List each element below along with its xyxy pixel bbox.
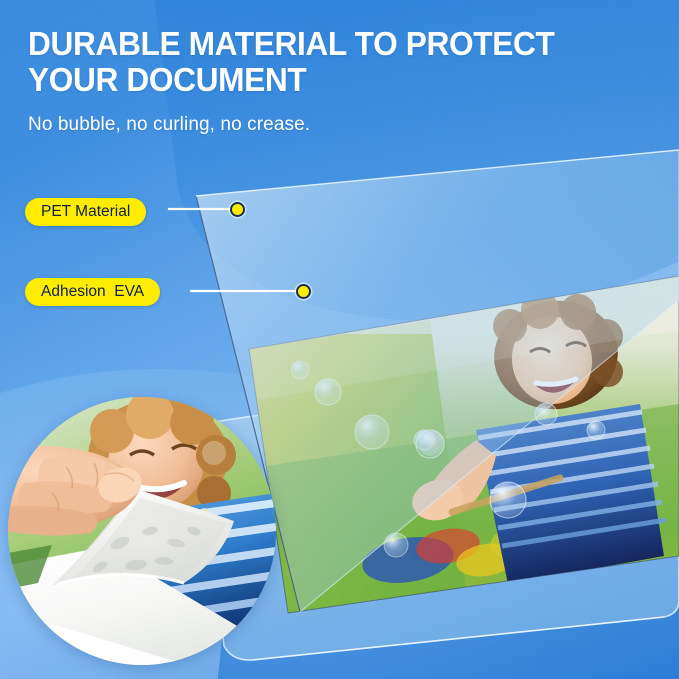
callout-leader-line-adhesion-eva <box>190 290 300 292</box>
page-title: DURABLE MATERIAL TO PROTECT YOUR DOCUMEN… <box>28 26 628 98</box>
headline-line-2: YOUR DOCUMENT <box>28 62 604 98</box>
detail-inset-peeling-laminate <box>8 397 276 665</box>
callout-leader-line-pet-material <box>168 208 234 210</box>
callout-label-pet-material[interactable]: PET Material <box>25 198 146 226</box>
callout-endpoint-dot-pet-material <box>230 202 245 217</box>
product-banner: DURABLE MATERIAL TO PROTECT YOUR DOCUMEN… <box>0 0 679 679</box>
subtitle: No bubble, no curling, no crease. <box>28 113 310 137</box>
callout-label-adhesion-eva[interactable]: Adhesion EVA <box>25 278 160 306</box>
headline-line-1: DURABLE MATERIAL TO PROTECT <box>28 26 604 62</box>
callout-endpoint-dot-adhesion-eva <box>296 284 311 299</box>
